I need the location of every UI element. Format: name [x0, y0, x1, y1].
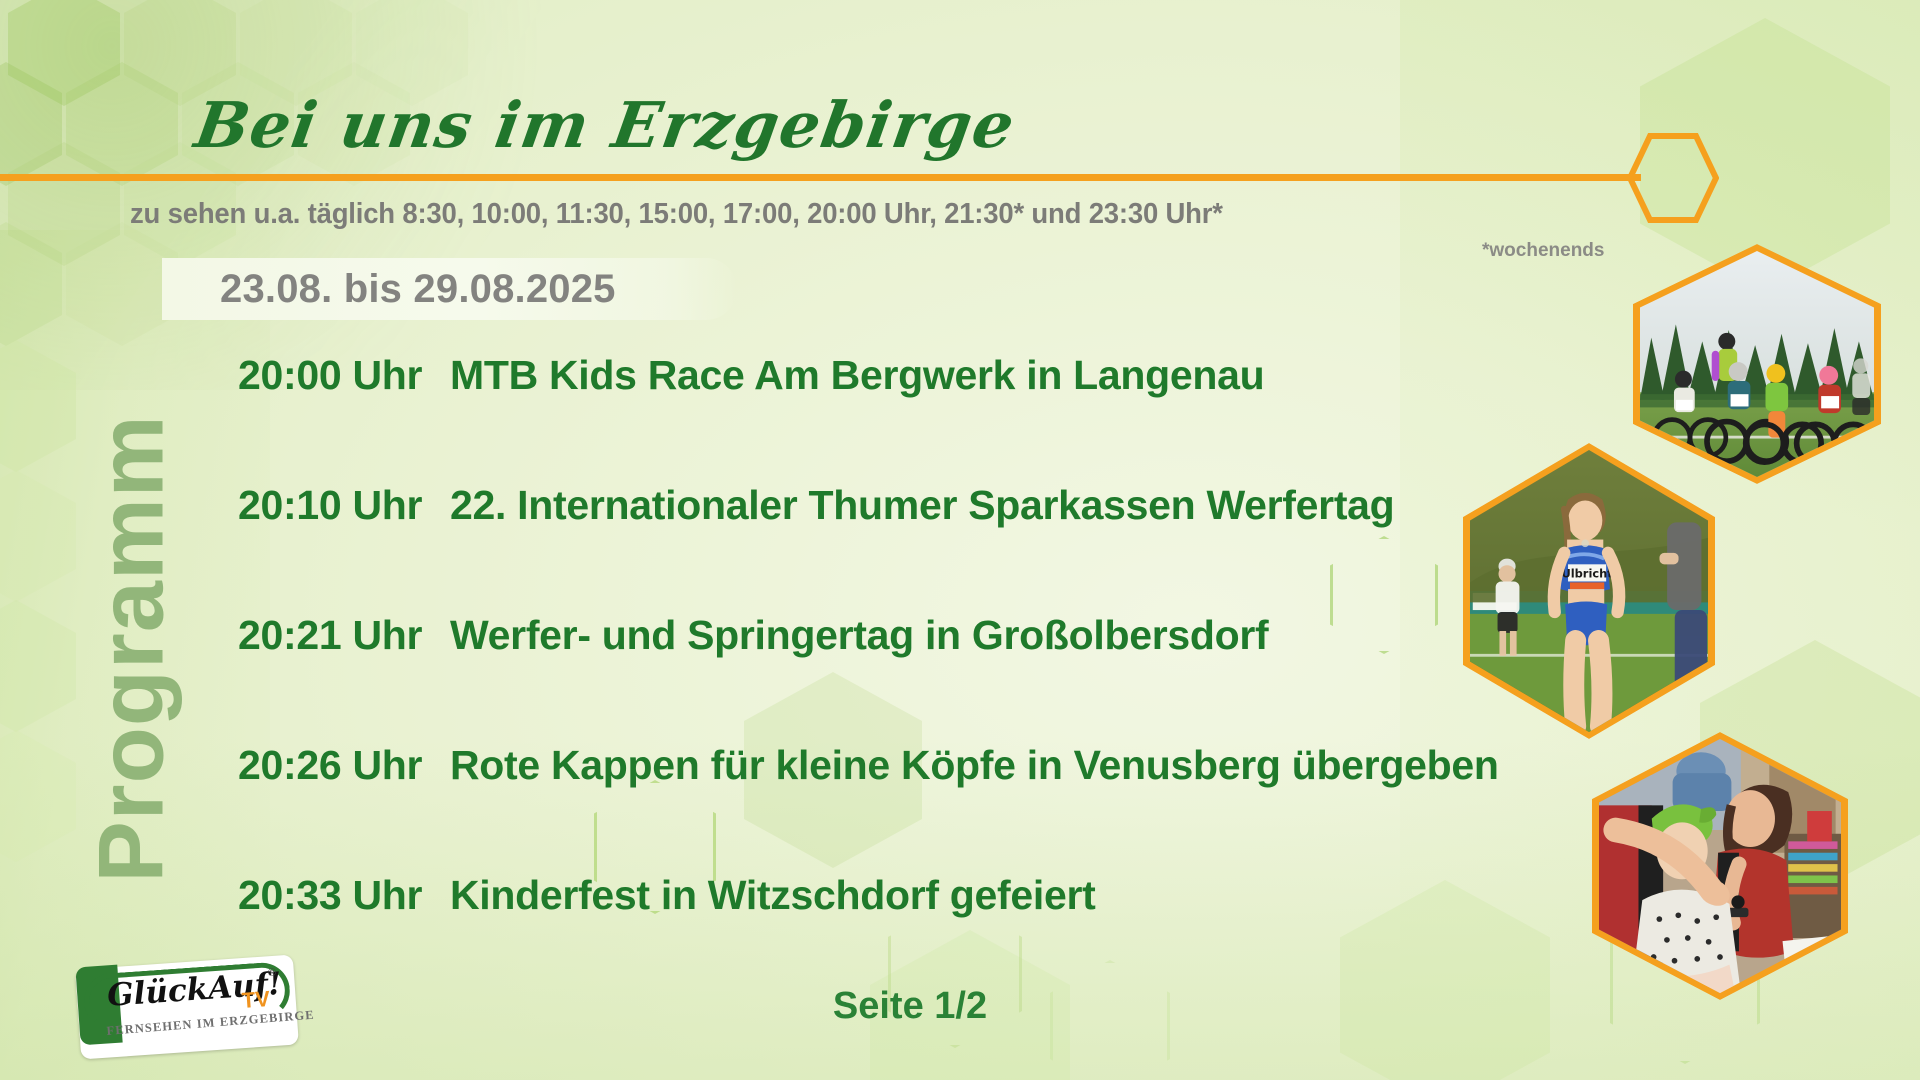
- program-title: Werfer- und Springertag in Großolbersdor…: [450, 612, 1268, 659]
- slide-header: Bei uns im Erzgebirge zu sehen u.a. tägl…: [0, 0, 1920, 230]
- program-title: MTB Kids Race Am Bergwerk in Langenau: [450, 352, 1264, 399]
- program-time: 20:26 Uhr: [238, 742, 450, 789]
- svg-text:Ulbricht: Ulbricht: [1561, 567, 1613, 581]
- airtimes-text: zu sehen u.a. täglich 8:30, 10:00, 11:30…: [130, 198, 1223, 231]
- channel-logo: GlückAuf! TV ® FERNSEHEN IM ERZGEBIRGE: [78, 962, 296, 1052]
- program-time: 20:10 Uhr: [238, 482, 450, 529]
- header-hexagon-icon: [1627, 133, 1719, 223]
- program-title: Rote Kappen für kleine Köpfe in Venusber…: [450, 742, 1499, 789]
- program-slide: Programm Bei uns im Erzgebirge zu sehen …: [0, 0, 1920, 1080]
- program-row: 20:00 Uhr MTB Kids Race Am Bergwerk in L…: [0, 352, 1920, 482]
- page-title: Bei uns im Erzgebirge: [190, 88, 1020, 162]
- program-title: 22. Internationaler Thumer Sparkassen We…: [450, 482, 1394, 529]
- program-time: 20:33 Uhr: [238, 872, 450, 919]
- logo-tv-label: TV: [241, 986, 271, 1014]
- program-time: 20:21 Uhr: [238, 612, 450, 659]
- logo-registered-mark: ®: [268, 967, 277, 980]
- date-range-badge: 23.08. bis 29.08.2025: [162, 258, 737, 320]
- date-range-label: 23.08. bis 29.08.2025: [220, 267, 616, 312]
- program-time: 20:00 Uhr: [238, 352, 450, 399]
- header-rule: [0, 174, 1641, 181]
- weekend-footnote: *wochenends: [1482, 240, 1604, 262]
- program-title: Kinderfest in Witzschdorf gefeiert: [450, 872, 1096, 919]
